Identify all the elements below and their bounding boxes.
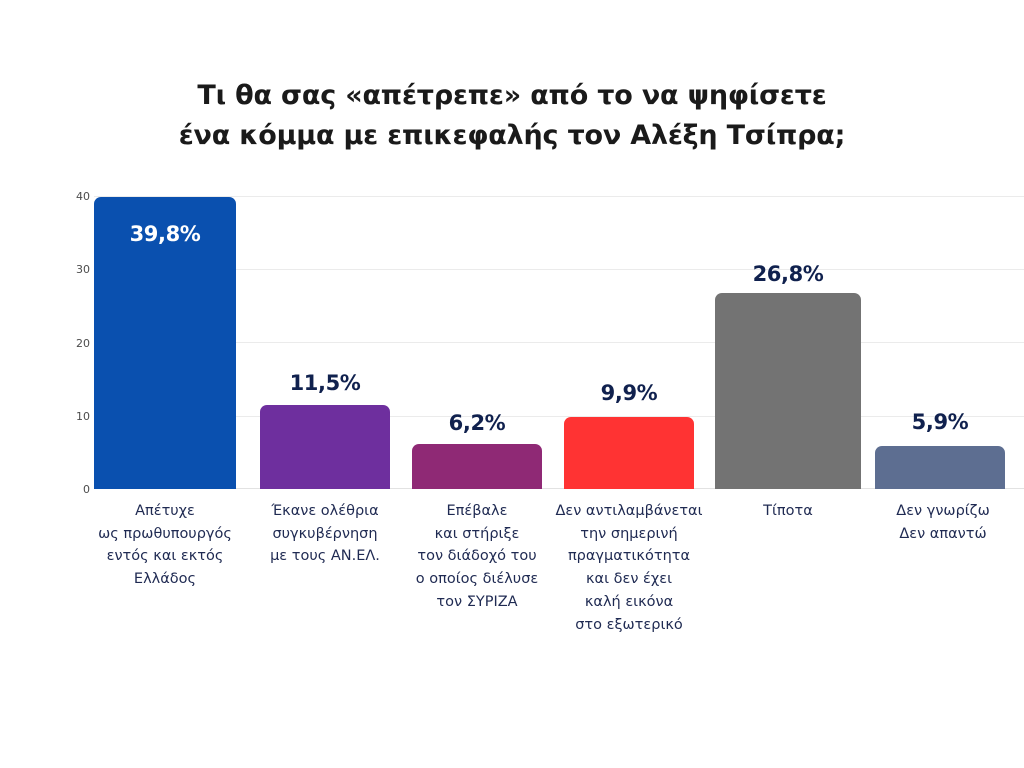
category-label-3-line-4: ο οποίος διέλυσε	[395, 568, 559, 591]
category-label-1-line-3: εντός και εκτός	[74, 545, 256, 568]
bar-4[interactable]	[564, 417, 694, 489]
category-label-4-line-4: και δεν έχει	[543, 568, 715, 591]
category-label-2-line-1: Έκανε ολέθρια	[243, 500, 407, 523]
ytick-label-0: 0	[56, 484, 90, 495]
chart-title-line-2: ένα κόμμα με επικεφαλής τον Αλέξη Τσίπρα…	[0, 116, 1024, 156]
category-label-5-line-1: Τίποτα	[706, 500, 870, 523]
category-label-1-line-2: ως πρωθυπουργός	[74, 523, 256, 546]
bar-value-6: 5,9%	[875, 412, 1005, 433]
bar-value-3: 6,2%	[412, 413, 542, 434]
bar-2[interactable]	[260, 405, 390, 489]
bar-6[interactable]	[875, 446, 1005, 489]
category-label-1-line-1: Απέτυχε	[74, 500, 256, 523]
category-label-4-line-5: καλή εικόνα	[543, 591, 715, 614]
bar-5[interactable]	[715, 293, 861, 489]
ytick-label-10: 10	[56, 411, 90, 422]
category-label-3-line-3: τον διάδοχό του	[395, 545, 559, 568]
ytick-label-20: 20	[56, 338, 90, 349]
bar-value-5: 26,8%	[715, 264, 861, 285]
category-label-2: Έκανε ολέθρια συγκυβέρνηση με τους ΑΝ.ΕΛ…	[243, 500, 407, 568]
bar-value-2: 11,5%	[260, 373, 390, 394]
category-label-6-line-1: Δεν γνωρίζω	[858, 500, 1024, 523]
category-label-4-line-1: Δεν αντιλαμβάνεται	[543, 500, 715, 523]
category-label-3: Επέβαλε και στήριξε τον διάδοχό του ο οπ…	[395, 500, 559, 614]
category-label-1-line-4: Ελλάδος	[74, 568, 256, 591]
ytick-label-30: 30	[56, 264, 90, 275]
category-label-2-line-3: με τους ΑΝ.ΕΛ.	[243, 545, 407, 568]
bar-value-4: 9,9%	[564, 383, 694, 404]
category-label-1: Απέτυχε ως πρωθυπουργός εντός και εκτός …	[74, 500, 256, 591]
category-label-6-line-2: Δεν απαντώ	[858, 523, 1024, 546]
category-label-3-line-5: τον ΣΥΡΙΖΑ	[395, 591, 559, 614]
category-label-6: Δεν γνωρίζω Δεν απαντώ	[858, 500, 1024, 545]
category-label-2-line-2: συγκυβέρνηση	[243, 523, 407, 546]
category-label-4-line-2: την σημερινή	[543, 523, 715, 546]
ytick-label-40: 40	[56, 191, 90, 202]
chart-title-line-1: Τι θα σας «απέτρεπε» από το να ψηφίσετε	[0, 76, 1024, 116]
category-label-4-line-3: πραγματικότητα	[543, 545, 715, 568]
category-label-3-line-1: Επέβαλε	[395, 500, 559, 523]
bar-3[interactable]	[412, 444, 542, 489]
chart-slide: Τι θα σας «απέτρεπε» από το να ψηφίσετε …	[0, 0, 1024, 768]
chart-title: Τι θα σας «απέτρεπε» από το να ψηφίσετε …	[0, 76, 1024, 156]
category-label-5: Τίποτα	[706, 500, 870, 523]
category-label-3-line-2: και στήριξε	[395, 523, 559, 546]
bar-value-1: 39,8%	[94, 224, 236, 245]
category-label-4: Δεν αντιλαμβάνεται την σημερινή πραγματι…	[543, 500, 715, 636]
category-label-4-line-6: στο εξωτερικό	[543, 614, 715, 637]
gridline-40	[94, 196, 1024, 197]
